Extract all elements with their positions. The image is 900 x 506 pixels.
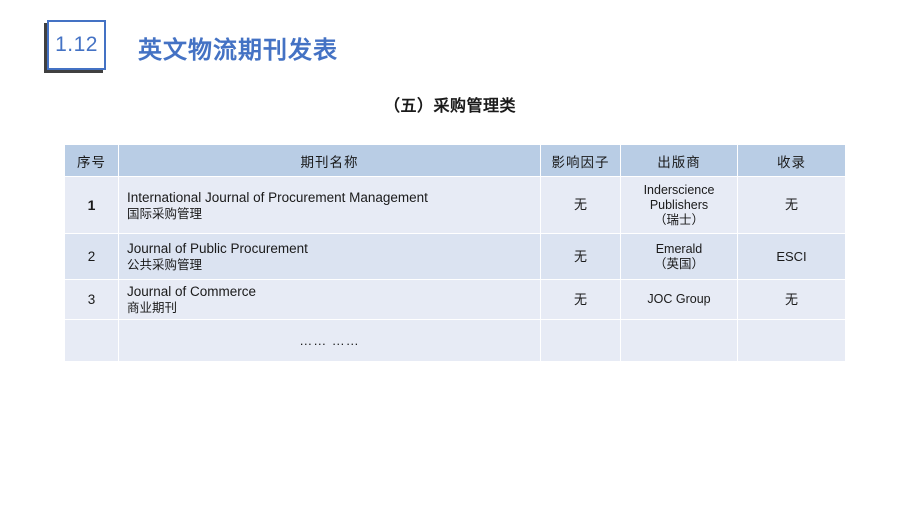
table-row: 3 Journal of Commerce 商业期刊 无 JOC Group 无	[65, 280, 846, 320]
table-header: 序号 期刊名称 影响因子 出版商 收录	[65, 145, 846, 177]
journal-name-english: Journal of Public Procurement	[127, 240, 540, 257]
slide-header: 1.12 英文物流期刊发表	[0, 0, 900, 90]
cell-indexing: ESCI	[738, 234, 846, 280]
publisher-line-1: JOC Group	[621, 292, 737, 307]
publisher-line-1: Inderscience	[621, 183, 737, 198]
impact-factor-value: 无	[541, 249, 620, 265]
cell-impact-factor: 无	[541, 177, 621, 234]
journal-name-english: International Journal of Procurement Man…	[127, 189, 540, 206]
column-header-publisher: 出版商	[621, 145, 738, 177]
cell-index: 1	[65, 177, 119, 234]
column-header-journal-name: 期刊名称	[119, 145, 541, 177]
journal-name-chinese: 国际采购管理	[127, 206, 540, 222]
indexing-value: 无	[738, 292, 845, 308]
journal-name-chinese: 商业期刊	[127, 300, 540, 316]
table-body: 1 International Journal of Procurement M…	[65, 177, 846, 362]
publisher-line-2: （英国）	[621, 257, 737, 272]
journal-name-english: Journal of Commerce	[127, 283, 540, 300]
table-row: 1 International Journal of Procurement M…	[65, 177, 846, 234]
cell-publisher: Emerald （英国）	[621, 234, 738, 280]
cell-journal-name: International Journal of Procurement Man…	[119, 177, 541, 234]
cell-index: 2	[65, 234, 119, 280]
column-header-impact-factor: 影响因子	[541, 145, 621, 177]
cell-publisher: Inderscience Publishers （瑞士）	[621, 177, 738, 234]
impact-factor-value: 无	[541, 197, 620, 213]
continuation-ellipsis: …… ……	[119, 320, 541, 362]
cell-indexing: 无	[738, 177, 846, 234]
cell-journal-name: Journal of Public Procurement 公共采购管理	[119, 234, 541, 280]
indexing-value: 无	[738, 197, 845, 213]
impact-factor-value: 无	[541, 292, 620, 308]
cell-index	[65, 320, 119, 362]
table-row: 2 Journal of Public Procurement 公共采购管理 无…	[65, 234, 846, 280]
cell-index: 3	[65, 280, 119, 320]
publisher-line-1: Emerald	[621, 242, 737, 257]
cell-journal-name: Journal of Commerce 商业期刊	[119, 280, 541, 320]
publisher-line-3: （瑞士）	[621, 213, 737, 228]
table-header-row: 序号 期刊名称 影响因子 出版商 收录	[65, 145, 846, 177]
journal-list-table: 序号 期刊名称 影响因子 出版商 收录 1 International Jour…	[64, 144, 846, 362]
cell-impact-factor: 无	[541, 234, 621, 280]
cell-publisher: JOC Group	[621, 280, 738, 320]
column-header-indexing: 收录	[738, 145, 846, 177]
cell-publisher	[621, 320, 738, 362]
table-row-continuation: …… ……	[65, 320, 846, 362]
journal-name-chinese: 公共采购管理	[127, 257, 540, 273]
indexing-value: ESCI	[738, 249, 845, 265]
page-title: 英文物流期刊发表	[138, 30, 338, 65]
publisher-line-2: Publishers	[621, 198, 737, 213]
section-subtitle: （五）采购管理类	[0, 92, 900, 116]
cell-impact-factor	[541, 320, 621, 362]
section-number-label: 1.12	[49, 22, 104, 68]
cell-indexing: 无	[738, 280, 846, 320]
cell-impact-factor: 无	[541, 280, 621, 320]
cell-indexing	[738, 320, 846, 362]
section-number-badge: 1.12	[47, 20, 106, 70]
column-header-index: 序号	[65, 145, 119, 177]
